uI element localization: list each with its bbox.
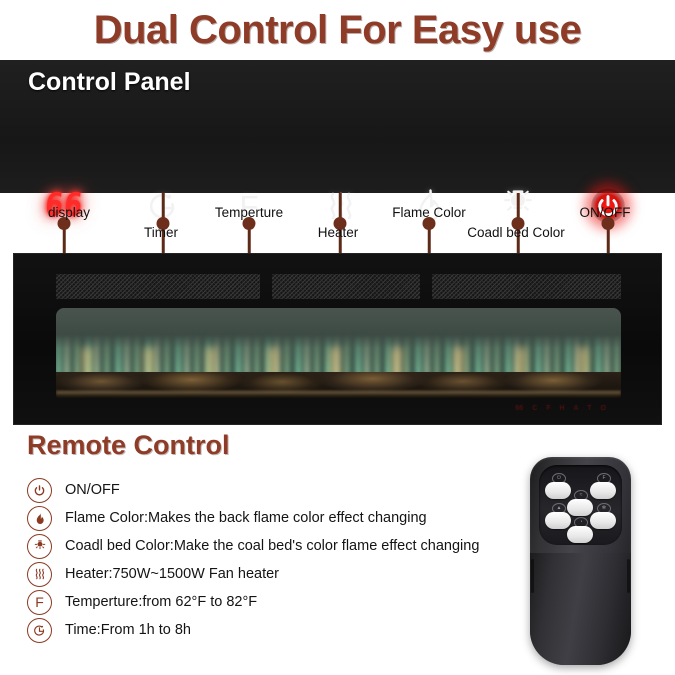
list-item: Flame Color:Makes the back flame color e…	[27, 504, 497, 532]
flame-icon	[27, 506, 52, 531]
remote-fahrenheit-button[interactable]	[590, 482, 616, 499]
leader-line-flame	[428, 227, 431, 253]
ember-strip	[56, 391, 621, 398]
remote-grip-notch-right	[627, 559, 630, 593]
list-item-label: Flame Color:Makes the back flame color e…	[65, 510, 427, 526]
page-title: Dual Control For Easy use	[0, 4, 675, 56]
control-label-flame: Flame Color	[392, 205, 466, 220]
fp-indicator-2: F	[546, 405, 550, 412]
fp-indicator-1: C	[532, 405, 537, 412]
control-label-coal-bed: Coadl bed Color	[467, 225, 565, 240]
control-label-timer: Timer	[144, 225, 178, 240]
remote-grip-body	[530, 553, 631, 665]
remote-flame-button[interactable]	[545, 512, 571, 529]
light-bulb-icon	[27, 534, 52, 559]
fireplace-indicator-row: 66 C F H A T O	[515, 405, 606, 412]
list-item: F Temperture:from 62°F to 82°F	[27, 588, 497, 616]
fahrenheit-icon: F	[27, 590, 52, 615]
remote-control-device: ⏻ F ≈ ▲ ✻ ◔	[530, 457, 631, 665]
list-item-label: Temperture:from 62°F to 82°F	[65, 594, 257, 610]
fp-indicator-6: O	[601, 405, 606, 412]
control-label-display: display	[48, 205, 90, 220]
control-label-power: ON/OFF	[580, 205, 631, 220]
list-item-label: ON/OFF	[65, 482, 120, 498]
leader-line-power	[607, 227, 610, 253]
remote-control-heading: Remote Control	[27, 430, 230, 461]
vent-grille-right	[432, 274, 621, 299]
remote-keypad: ⏻ F ≈ ▲ ✻ ◔	[539, 465, 622, 545]
remote-function-list: ON/OFF Flame Color:Makes the back flame …	[27, 476, 497, 644]
remote-grip-notch-left	[531, 559, 534, 593]
control-label-temperature: Temperture	[215, 205, 283, 220]
fireplace-product-image: 66 C F H A T O	[13, 253, 662, 425]
fp-indicator-3: H	[560, 405, 565, 412]
vent-grille-left	[56, 274, 260, 299]
timer-clock-icon	[27, 618, 52, 643]
remote-heater-button[interactable]	[567, 499, 593, 516]
leader-line-temperature	[248, 227, 251, 253]
fireplace-glass-panel	[56, 308, 621, 398]
list-item: Time:From 1h to 8h	[27, 616, 497, 644]
fp-indicator-5: T	[587, 405, 591, 412]
power-icon	[27, 478, 52, 503]
list-item-label: Time:From 1h to 8h	[65, 622, 191, 638]
list-item: Heater:750W~1500W Fan heater	[27, 560, 497, 588]
control-panel: Control Panel 66 F	[0, 60, 675, 193]
list-item-label: Heater:750W~1500W Fan heater	[65, 566, 279, 582]
leader-line-display	[63, 227, 66, 253]
list-item: ON/OFF	[27, 476, 497, 504]
list-item: Coadl bed Color:Make the coal bed's colo…	[27, 532, 497, 560]
heat-waves-icon	[27, 562, 52, 587]
fp-indicator-4: A	[574, 405, 579, 412]
remote-bulb-button[interactable]	[590, 512, 616, 529]
control-panel-heading: Control Panel	[28, 68, 191, 97]
list-item-label: Coadl bed Color:Make the coal bed's colo…	[65, 538, 479, 554]
remote-timer-button[interactable]	[567, 526, 593, 543]
vent-grille-center	[272, 274, 420, 299]
fp-indicator-0: 66	[515, 405, 523, 412]
remote-power-button[interactable]	[545, 482, 571, 499]
control-label-heater: Heater	[318, 225, 359, 240]
